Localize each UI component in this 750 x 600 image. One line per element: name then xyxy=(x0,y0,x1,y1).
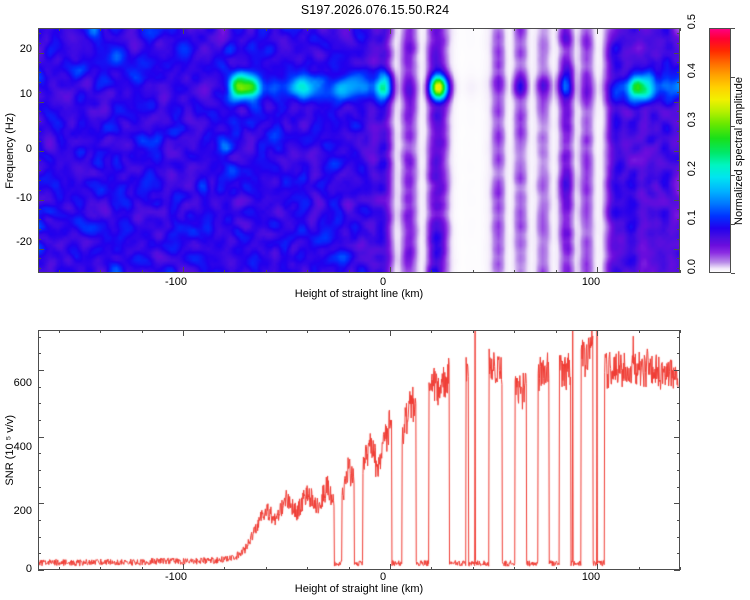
axis-tick xyxy=(597,28,598,34)
axis-tick xyxy=(674,370,680,371)
axis-tick xyxy=(639,330,640,333)
axis-tick xyxy=(38,520,41,521)
axis-tick xyxy=(59,28,60,31)
axis-tick xyxy=(59,567,60,570)
axis-tick xyxy=(677,487,680,488)
axis-tick xyxy=(431,330,432,333)
axis-tick xyxy=(390,330,391,336)
axis-tick xyxy=(674,200,680,201)
spectrogram-xtick-100: 100 xyxy=(561,276,621,288)
axis-tick xyxy=(556,270,557,273)
snr-xtick-0: 0 xyxy=(353,571,413,583)
axis-tick xyxy=(38,570,44,571)
axis-tick xyxy=(38,229,41,230)
axis-tick xyxy=(224,330,225,333)
axis-tick xyxy=(266,28,267,31)
axis-tick xyxy=(224,28,225,31)
snr-trace xyxy=(39,331,679,569)
axis-tick xyxy=(38,453,41,454)
axis-tick xyxy=(390,267,391,273)
spectrogram-ytick-10: 10 xyxy=(0,88,32,100)
axis-tick xyxy=(677,387,680,388)
colorbar-tick-label: 0.0 xyxy=(686,259,706,274)
spectrogram-x-axis-label: Height of straight line (km) xyxy=(38,288,680,300)
axis-tick xyxy=(307,270,308,273)
axis-tick xyxy=(349,270,350,273)
axis-tick xyxy=(38,503,44,504)
axis-tick xyxy=(677,82,680,83)
snr-ytick-600: 600 xyxy=(0,377,32,389)
axis-tick xyxy=(38,121,41,122)
axis-tick xyxy=(639,28,640,31)
axis-tick xyxy=(674,102,680,103)
axis-tick xyxy=(100,28,101,31)
axis-tick xyxy=(556,567,557,570)
axis-tick xyxy=(674,570,680,571)
axis-tick xyxy=(349,567,350,570)
axis-tick xyxy=(349,28,350,31)
axis-tick xyxy=(38,337,41,338)
spectrogram-panel xyxy=(38,28,680,273)
axis-tick xyxy=(38,151,44,152)
axis-tick xyxy=(100,330,101,333)
axis-tick xyxy=(674,249,680,250)
colorbar-tick-label: 0.5 xyxy=(686,14,706,29)
axis-tick xyxy=(674,151,680,152)
axis-tick xyxy=(59,330,60,333)
axis-tick xyxy=(431,28,432,31)
axis-tick xyxy=(38,43,41,44)
colorbar-tick-label: 0.3 xyxy=(686,112,706,127)
axis-tick xyxy=(38,553,41,554)
axis-tick xyxy=(38,470,41,471)
axis-tick xyxy=(677,219,680,220)
colorbar-tick xyxy=(731,77,735,78)
axis-tick xyxy=(183,28,184,34)
axis-tick xyxy=(677,258,680,259)
axis-tick xyxy=(680,270,681,273)
axis-tick xyxy=(674,503,680,504)
axis-tick xyxy=(514,28,515,31)
axis-tick xyxy=(224,567,225,570)
axis-tick xyxy=(349,330,350,333)
axis-tick xyxy=(100,270,101,273)
snr-xtick-neg100: -100 xyxy=(146,571,206,583)
axis-tick xyxy=(677,170,680,171)
axis-tick xyxy=(38,437,44,438)
axis-tick xyxy=(38,72,41,73)
axis-tick xyxy=(677,239,680,240)
spectrogram-xtick-neg100: -100 xyxy=(146,276,206,288)
colorbar-tick-label: 0.4 xyxy=(686,63,706,78)
axis-tick xyxy=(38,487,41,488)
axis-tick xyxy=(38,353,41,354)
axis-tick xyxy=(38,387,41,388)
axis-tick xyxy=(677,92,680,93)
axis-tick xyxy=(390,28,391,34)
axis-tick xyxy=(677,268,680,269)
axis-tick xyxy=(597,330,598,336)
axis-tick xyxy=(38,268,41,269)
axis-tick xyxy=(674,53,680,54)
axis-tick xyxy=(680,28,681,31)
axis-tick xyxy=(677,337,680,338)
colorbar-tick-label: 0.2 xyxy=(686,161,706,176)
axis-tick xyxy=(639,270,640,273)
axis-tick xyxy=(266,270,267,273)
axis-tick xyxy=(556,330,557,333)
axis-tick xyxy=(677,72,680,73)
axis-tick xyxy=(677,229,680,230)
axis-tick xyxy=(38,420,41,421)
axis-tick xyxy=(38,209,41,210)
colorbar-tick xyxy=(731,175,735,176)
figure-title: S197.2026.076.15.50.R24 xyxy=(0,3,750,17)
axis-tick xyxy=(307,330,308,333)
spectrogram-ytick-neg10: -10 xyxy=(0,192,32,204)
colorbar-title-text: Normalized spectral amplitude xyxy=(733,77,745,225)
axis-tick xyxy=(677,537,680,538)
axis-tick xyxy=(677,131,680,132)
axis-tick xyxy=(38,258,41,259)
axis-tick xyxy=(473,330,474,333)
axis-tick xyxy=(514,270,515,273)
axis-tick xyxy=(680,330,681,333)
axis-tick xyxy=(677,111,680,112)
colorbar-tick xyxy=(731,126,735,127)
axis-tick xyxy=(38,82,41,83)
axis-tick xyxy=(677,353,680,354)
axis-tick xyxy=(38,180,41,181)
axis-tick xyxy=(224,270,225,273)
figure-canvas: S197.2026.076.15.50.R24 Frequency (Hz) H… xyxy=(0,0,750,600)
axis-tick xyxy=(674,437,680,438)
axis-tick xyxy=(183,267,184,273)
axis-tick xyxy=(639,567,640,570)
axis-tick xyxy=(431,270,432,273)
axis-tick xyxy=(59,270,60,273)
spectrogram-ytick-neg20: -20 xyxy=(0,236,32,248)
axis-tick xyxy=(680,567,681,570)
snr-ytick-200: 200 xyxy=(0,505,32,517)
axis-tick xyxy=(677,403,680,404)
axis-tick xyxy=(677,470,680,471)
axis-tick xyxy=(473,270,474,273)
spectrogram-xtick-0: 0 xyxy=(353,276,413,288)
axis-tick xyxy=(38,33,41,34)
axis-tick xyxy=(514,567,515,570)
axis-tick xyxy=(597,267,598,273)
axis-tick xyxy=(677,520,680,521)
axis-tick xyxy=(677,209,680,210)
axis-tick xyxy=(473,567,474,570)
axis-tick xyxy=(38,62,41,63)
axis-tick xyxy=(307,567,308,570)
axis-tick xyxy=(38,170,41,171)
axis-tick xyxy=(556,28,557,31)
axis-tick xyxy=(183,564,184,570)
axis-tick xyxy=(677,141,680,142)
axis-tick xyxy=(38,53,44,54)
axis-tick xyxy=(142,330,143,333)
colorbar-tick xyxy=(731,273,735,274)
colorbar-tick xyxy=(731,224,735,225)
axis-tick xyxy=(390,564,391,570)
axis-tick xyxy=(38,239,41,240)
axis-tick xyxy=(100,567,101,570)
spectrogram-ytick-20: 20 xyxy=(0,43,32,55)
axis-tick xyxy=(677,62,680,63)
colorbar xyxy=(709,28,731,273)
axis-tick xyxy=(38,537,41,538)
spectrogram-image xyxy=(39,29,679,272)
colorbar-tick-label: 0.1 xyxy=(686,210,706,225)
axis-tick xyxy=(38,370,44,371)
axis-tick xyxy=(142,270,143,273)
axis-tick xyxy=(38,102,44,103)
snr-ytick-400: 400 xyxy=(0,441,32,453)
axis-tick xyxy=(142,28,143,31)
snr-x-axis-label: Height of straight line (km) xyxy=(38,583,680,595)
axis-tick xyxy=(677,180,680,181)
axis-tick xyxy=(677,453,680,454)
colorbar-title: Normalized spectral amplitude xyxy=(733,28,745,273)
snr-panel xyxy=(38,330,680,570)
axis-tick xyxy=(266,567,267,570)
axis-tick xyxy=(677,33,680,34)
axis-tick xyxy=(38,160,41,161)
colorbar-tick xyxy=(731,28,735,29)
axis-tick xyxy=(677,160,680,161)
axis-tick xyxy=(38,141,41,142)
axis-tick xyxy=(38,92,41,93)
axis-tick xyxy=(677,190,680,191)
axis-tick xyxy=(677,43,680,44)
axis-tick xyxy=(38,200,44,201)
axis-tick xyxy=(597,564,598,570)
axis-tick xyxy=(677,121,680,122)
axis-tick xyxy=(266,330,267,333)
axis-tick xyxy=(514,330,515,333)
snr-ytick-0: 0 xyxy=(0,563,32,575)
axis-tick xyxy=(183,330,184,336)
axis-tick xyxy=(38,403,41,404)
axis-tick xyxy=(473,28,474,31)
axis-tick xyxy=(677,420,680,421)
axis-tick xyxy=(431,567,432,570)
axis-tick xyxy=(307,28,308,31)
axis-tick xyxy=(38,190,41,191)
snr-xtick-100: 100 xyxy=(561,571,621,583)
spectrogram-ytick-0: 0 xyxy=(0,143,32,155)
axis-tick xyxy=(38,219,41,220)
axis-tick xyxy=(142,567,143,570)
axis-tick xyxy=(38,111,41,112)
axis-tick xyxy=(677,553,680,554)
axis-tick xyxy=(38,131,41,132)
axis-tick xyxy=(38,249,44,250)
